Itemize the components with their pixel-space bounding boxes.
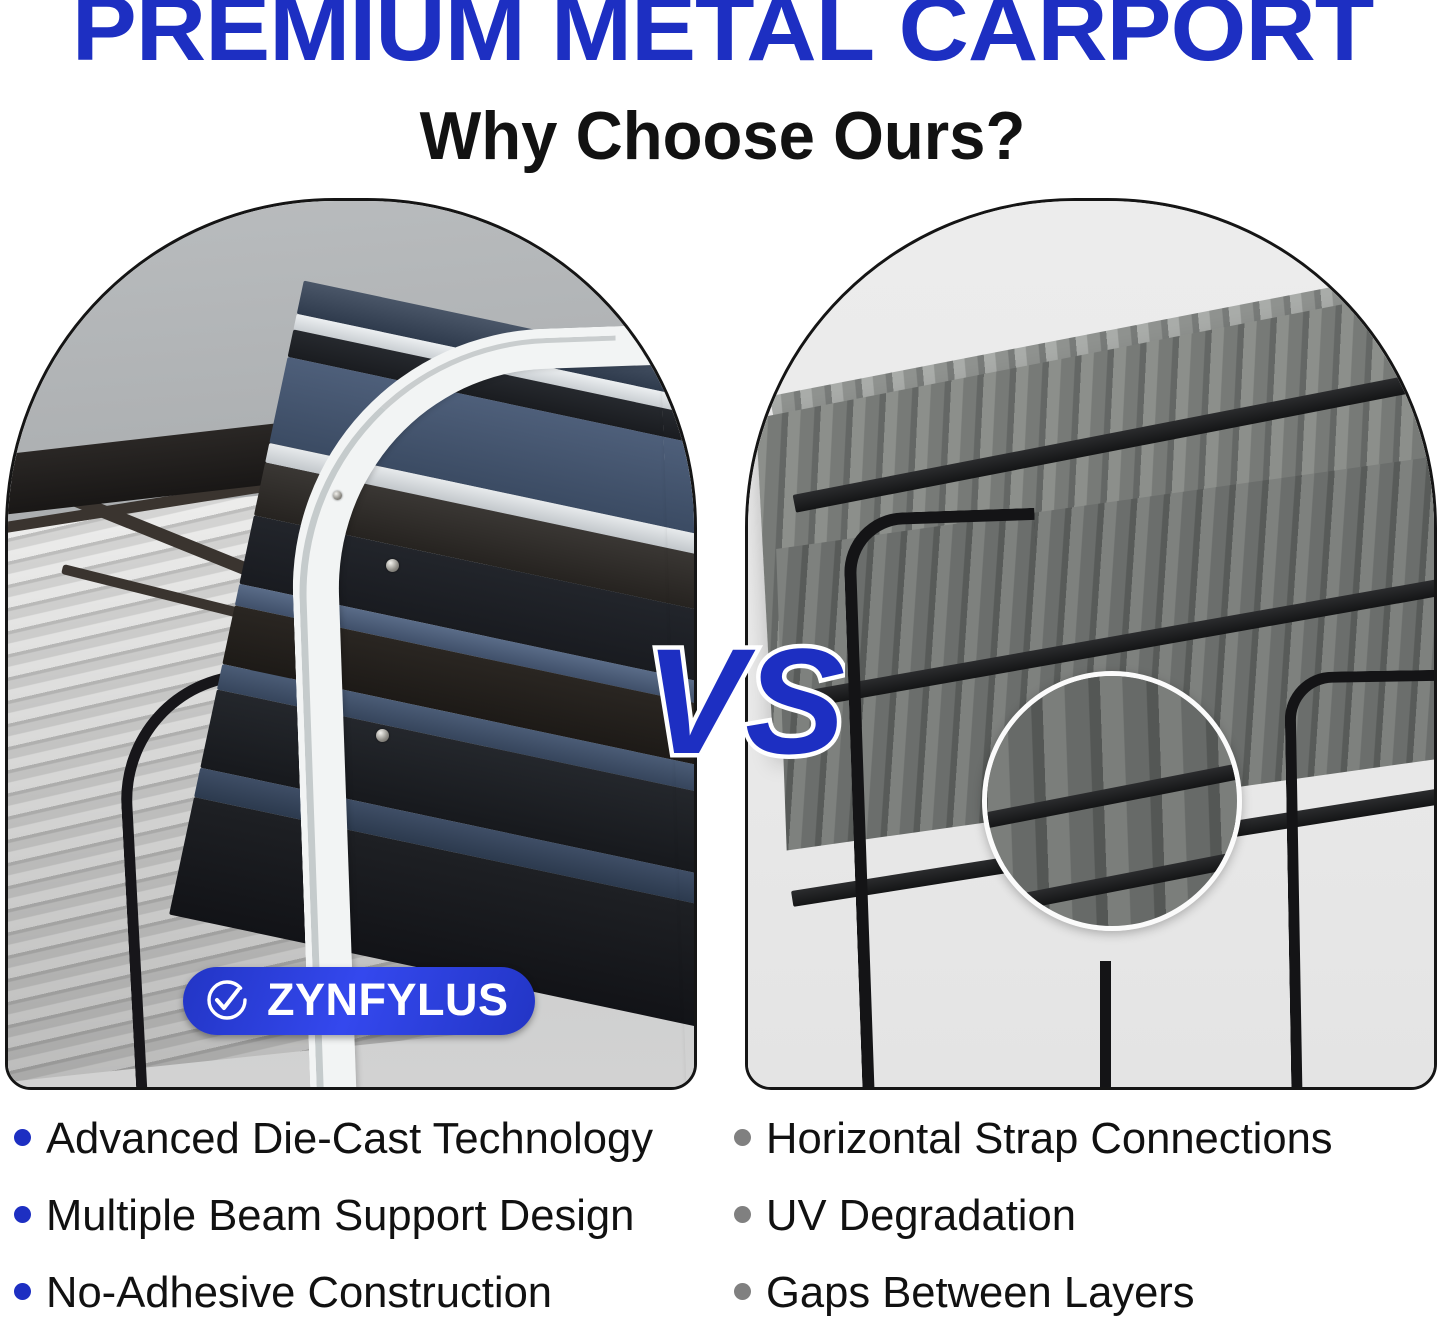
comparison-panels: ZYNFYLUS [0, 198, 1445, 1094]
badge-zynfylus[interactable]: ZYNFYLUS [183, 967, 535, 1035]
zynfylus-photo [8, 201, 694, 1087]
bullet-dot-icon [14, 1283, 31, 1300]
bullet-dot-icon [14, 1129, 31, 1146]
black-frame-rear [1284, 670, 1434, 1087]
list-item: UV Degradation [734, 1177, 1444, 1254]
header: PREMIUM METAL CARPORT Why Choose Ours? [0, 0, 1445, 82]
bullet-lists: Advanced Die-Cast Technology Multiple Be… [0, 1100, 1445, 1331]
bullet-label: UV Degradation [766, 1191, 1076, 1241]
support-post [1100, 961, 1111, 1087]
bullet-label: No-Adhesive Construction [46, 1268, 552, 1318]
panel-zynfylus: ZYNFYLUS [5, 198, 697, 1090]
page-title: PREMIUM METAL CARPORT [0, 0, 1445, 70]
bullet-label: Horizontal Strap Connections [766, 1114, 1333, 1164]
bullet-dot-icon [734, 1129, 751, 1146]
vs-label: VS [645, 617, 845, 785]
bolt-fastener [333, 491, 342, 500]
others-photo [748, 201, 1434, 1087]
list-item: Gaps Between Layers [734, 1254, 1444, 1331]
bullet-list-zynfylus: Advanced Die-Cast Technology Multiple Be… [0, 1100, 722, 1331]
panel-others: OTHERS [745, 198, 1437, 1090]
list-item: Advanced Die-Cast Technology [14, 1100, 722, 1177]
bullet-dot-icon [14, 1206, 31, 1223]
bullet-label: Multiple Beam Support Design [46, 1191, 634, 1241]
circle-check-icon [203, 976, 251, 1024]
list-item: No-Adhesive Construction [14, 1254, 722, 1331]
bullet-label: Gaps Between Layers [766, 1268, 1195, 1318]
page-subtitle: Why Choose Ours? [29, 100, 1416, 172]
list-item: Multiple Beam Support Design [14, 1177, 722, 1254]
bullet-dot-icon [734, 1206, 751, 1223]
bullet-dot-icon [734, 1283, 751, 1300]
vs-emblem: VS [645, 603, 845, 793]
list-item: Horizontal Strap Connections [734, 1100, 1444, 1177]
badge-zynfylus-label: ZYNFYLUS [267, 976, 509, 1024]
bullet-label: Advanced Die-Cast Technology [46, 1114, 653, 1164]
bullet-list-others: Horizontal Strap Connections UV Degradat… [722, 1100, 1444, 1331]
bolt-fastener [386, 559, 399, 572]
magnifier-inset [982, 671, 1242, 931]
bolt-fastener [376, 729, 389, 742]
